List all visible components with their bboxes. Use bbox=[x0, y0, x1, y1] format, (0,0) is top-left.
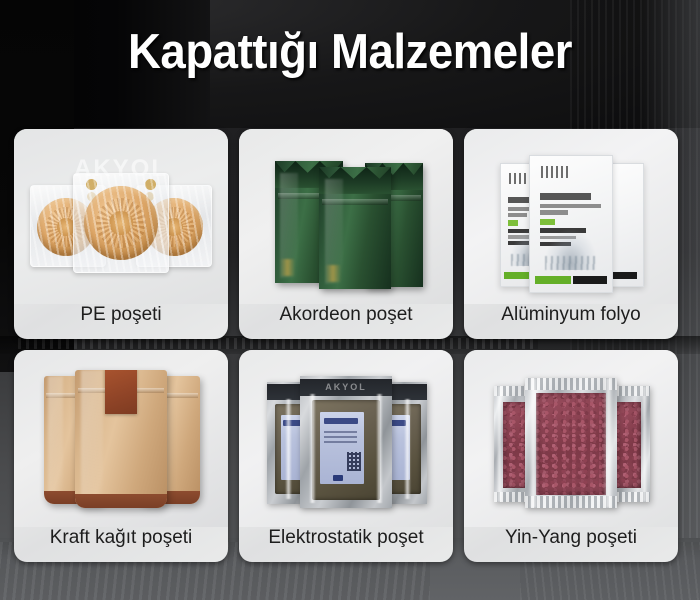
card-caption: PE poşeti bbox=[14, 304, 228, 339]
card-kraft-kagit-poseti[interactable]: Kraft kağıt poşeti bbox=[14, 350, 228, 562]
kraft-label-panel bbox=[105, 370, 137, 414]
material-card-grid: AKYOL PE poşeti bbox=[14, 129, 678, 562]
kraft-bag-front bbox=[75, 370, 167, 508]
moon-cake bbox=[84, 186, 158, 260]
pe-bag-center bbox=[73, 173, 169, 273]
photo-pe-bags: AKYOL bbox=[14, 129, 228, 304]
promo-banner: Kapattığı Malzemeler AKYOL bbox=[0, 0, 700, 600]
card-caption: Kraft kağıt poşeti bbox=[14, 527, 228, 562]
hard-drive bbox=[312, 400, 380, 500]
gold-dot bbox=[86, 179, 97, 190]
drive-label bbox=[320, 412, 364, 484]
vacuum-bag-front bbox=[525, 378, 617, 508]
photo-kraft-pouches bbox=[14, 350, 228, 527]
card-caption: Akordeon poşet bbox=[239, 304, 453, 339]
card-caption: Yin-Yang poşeti bbox=[464, 527, 678, 562]
photo-antistatic-bags: AKYOL bbox=[239, 350, 453, 527]
card-akordeon-poset[interactable]: Akordeon poşet bbox=[239, 129, 453, 339]
red-beans bbox=[536, 393, 606, 495]
photo-foil-sachets bbox=[464, 129, 678, 304]
green-bag-front bbox=[319, 167, 391, 289]
antistatic-bag-front: AKYOL bbox=[300, 376, 392, 508]
card-caption: Alüminyum folyo bbox=[464, 304, 678, 339]
sachet-center bbox=[529, 155, 613, 293]
watermark-text: AKYOL bbox=[300, 379, 392, 396]
card-pe-poseti[interactable]: AKYOL PE poşeti bbox=[14, 129, 228, 339]
photo-vacuum-bags bbox=[464, 350, 678, 527]
page-title: Kapattığı Malzemeler bbox=[25, 21, 676, 83]
card-yin-yang-poseti[interactable]: Yin-Yang poşeti bbox=[464, 350, 678, 562]
card-caption: Elektrostatik poşet bbox=[239, 527, 453, 562]
photo-accordion-bags bbox=[239, 129, 453, 304]
card-elektrostatik-poset[interactable]: AKYOL Elektrostati bbox=[239, 350, 453, 562]
card-aluminyum-folyo[interactable]: Alüminyum folyo bbox=[464, 129, 678, 339]
gold-dot bbox=[145, 179, 156, 190]
